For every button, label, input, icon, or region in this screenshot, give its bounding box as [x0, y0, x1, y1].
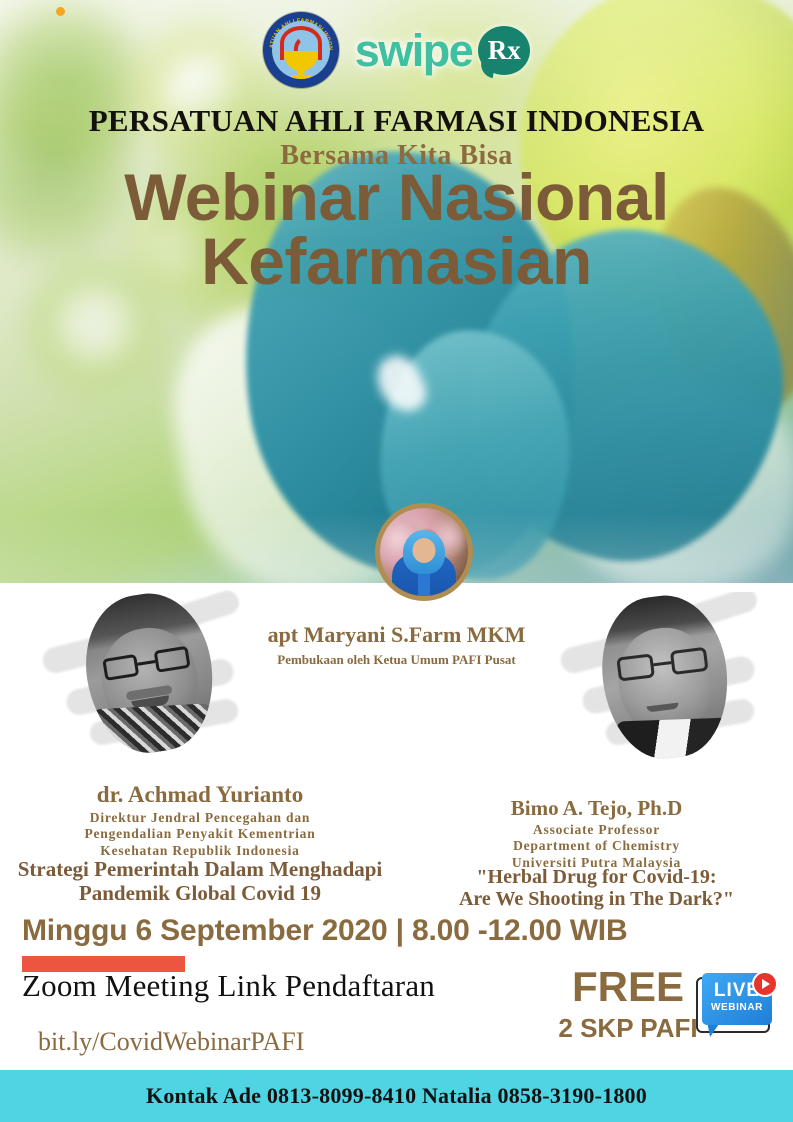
- left-speaker-affiliation: Direktur Jendral Pencegahan dan Pengenda…: [0, 810, 400, 859]
- left-speaker-portrait: [75, 588, 223, 758]
- right-speaker-topic: "Herbal Drug for Covid-19: Are We Shooti…: [400, 866, 793, 911]
- swiperx-logo: swipe Rx: [355, 26, 531, 75]
- pafi-logo: PERSATUAN AHLI FARMASI INDONESIA ★ P A F…: [263, 12, 339, 88]
- swiperx-wordmark: swipe: [355, 28, 473, 73]
- avatar-face: [413, 538, 436, 563]
- contact-info: Kontak Ade 0813-8099-8410 Natalia 0858-3…: [146, 1083, 647, 1109]
- right-speaker-affiliation: Associate Professor Department of Chemis…: [400, 822, 793, 871]
- live-webinar-badge: LIVE WEBINAR: [694, 973, 778, 1045]
- portrait-batik-shirt: [91, 703, 214, 758]
- left-speaker-topic: Strategi Pemerintah Dalam Menghadapi Pan…: [0, 858, 400, 905]
- credits-label: 2 SKP PAFI: [548, 1015, 708, 1041]
- right-speaker-photo: [555, 592, 770, 762]
- right-speaker-name: Bimo A. Tejo, Ph.D: [400, 796, 793, 821]
- title-line-2: Kefarmasian: [0, 229, 793, 293]
- price-label: FREE: [548, 966, 708, 1008]
- rx-speech-bubble-icon: Rx: [478, 26, 530, 75]
- bowl-foot: [291, 75, 311, 79]
- webinar-poster: PERSATUAN AHLI FARMASI INDONESIA ★ P A F…: [0, 0, 793, 1122]
- bubble-tail: [479, 61, 495, 77]
- platform-line: Zoom Meeting Link Pendaftaran: [22, 968, 435, 1004]
- registration-link[interactable]: bit.ly/CovidWebinarPAFI: [38, 1027, 304, 1057]
- pafi-emblem: [272, 21, 330, 79]
- title-line-1: Webinar Nasional: [124, 160, 669, 234]
- event-date-time: Minggu 6 September 2020 | 8.00 -12.00 WI…: [22, 914, 627, 948]
- center-speaker-avatar: [375, 503, 473, 601]
- organization-name: PERSATUAN AHLI FARMASI INDONESIA: [0, 103, 793, 139]
- footer-bar: Kontak Ade 0813-8099-8410 Natalia 0858-3…: [0, 1070, 793, 1122]
- badge-webinar-label: WEBINAR: [702, 1003, 772, 1013]
- left-speaker-photo: [35, 588, 250, 758]
- swiperx-dot-icon: [56, 7, 65, 16]
- logo-row: PERSATUAN AHLI FARMASI INDONESIA ★ P A F…: [0, 8, 793, 92]
- rx-label: Rx: [488, 37, 521, 64]
- page-title: Webinar Nasional Kefarmasian: [0, 165, 793, 293]
- left-speaker-name: dr. Achmad Yurianto: [0, 782, 400, 808]
- play-icon: [752, 971, 778, 997]
- portrait-suit-collar: [616, 718, 730, 762]
